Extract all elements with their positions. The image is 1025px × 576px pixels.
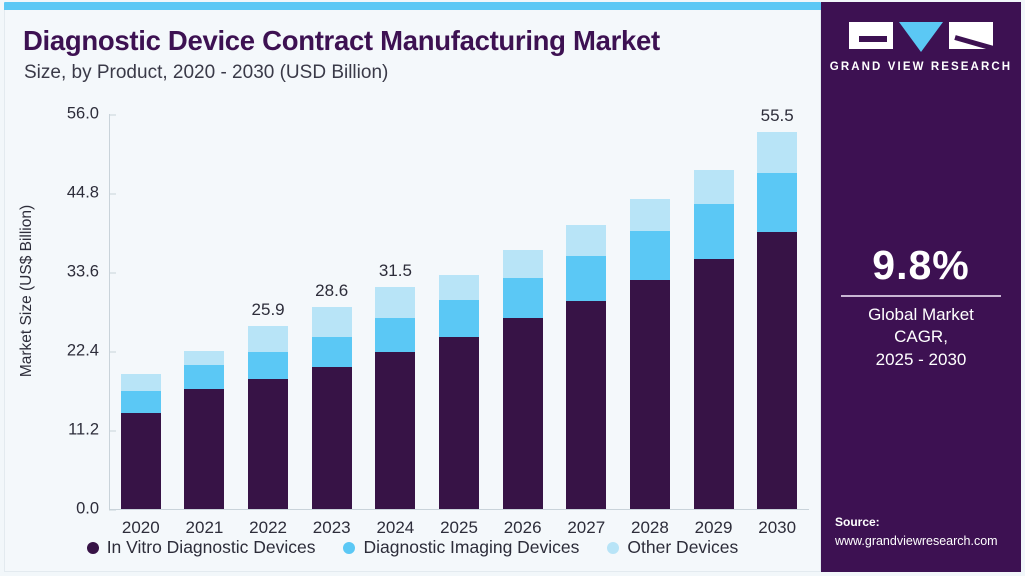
y-axis-line: [109, 114, 110, 509]
y-axis-tick-label: 44.8: [67, 184, 109, 203]
bar-segment[interactable]: [121, 413, 161, 509]
bar-segment[interactable]: [375, 318, 415, 353]
y-axis-tick-label: 33.6: [67, 263, 109, 282]
bar-segment[interactable]: [375, 287, 415, 318]
x-axis-tick-label: 2022: [249, 518, 287, 538]
bar-segment[interactable]: [439, 337, 479, 509]
page-title: Diagnostic Device Contract Manufacturing…: [23, 25, 660, 57]
bar-value-label: 31.5: [379, 261, 412, 281]
bar-segment[interactable]: [630, 280, 670, 509]
bar-segment[interactable]: [694, 204, 734, 259]
bar-segment[interactable]: [757, 132, 797, 174]
x-axis-tick-label: 2021: [186, 518, 224, 538]
logo-wordmark: GRAND VIEW RESEARCH: [830, 61, 1012, 73]
bar-segment[interactable]: [566, 256, 606, 300]
bar-group[interactable]: 31.52024: [375, 114, 415, 509]
legend-item[interactable]: In Vitro Diagnostic Devices: [87, 537, 316, 558]
bar-segment[interactable]: [184, 351, 224, 365]
bar-segment[interactable]: [630, 231, 670, 280]
bar-segment[interactable]: [184, 389, 224, 509]
bar-segment[interactable]: [630, 199, 670, 231]
bar-segment[interactable]: [375, 352, 415, 509]
bar-segment[interactable]: [121, 374, 161, 392]
y-axis-tick-label: 11.2: [68, 421, 109, 440]
bar-segment[interactable]: [503, 250, 543, 278]
bar-segment[interactable]: [312, 307, 352, 337]
bar-group[interactable]: 2025: [439, 114, 479, 509]
logo-marks: [849, 22, 993, 52]
x-axis-tick-label: 2028: [631, 518, 669, 538]
source-url: www.grandviewresearch.com: [835, 532, 998, 550]
bar-group[interactable]: 2027: [566, 114, 606, 509]
brand-side-panel: GRAND VIEW RESEARCH 9.8% Global Market C…: [821, 2, 1021, 572]
x-axis-tick-label: 2027: [567, 518, 605, 538]
brand-logo: GRAND VIEW RESEARCH: [821, 22, 1021, 73]
cagr-divider: [841, 295, 1001, 297]
legend-color-dot: [87, 542, 99, 554]
legend-item[interactable]: Diagnostic Imaging Devices: [343, 537, 579, 558]
legend-color-dot: [343, 542, 355, 554]
legend-label: In Vitro Diagnostic Devices: [107, 537, 316, 558]
bar-segment[interactable]: [248, 352, 288, 379]
bar-segment[interactable]: [439, 300, 479, 337]
bar-segment[interactable]: [312, 337, 352, 367]
legend-label: Diagnostic Imaging Devices: [363, 537, 579, 558]
bar-segment[interactable]: [757, 173, 797, 232]
bar-segment[interactable]: [248, 326, 288, 351]
bar-segment[interactable]: [694, 170, 734, 205]
y-axis-tick-label: 0.0: [76, 500, 109, 519]
bar-segment[interactable]: [694, 259, 734, 509]
chart-panel: Diagnostic Device Contract Manufacturing…: [4, 10, 821, 572]
x-axis-tick-label: 2025: [440, 518, 478, 538]
y-axis-tick-label: 22.4: [67, 342, 109, 361]
chart-legend: In Vitro Diagnostic DevicesDiagnostic Im…: [5, 537, 820, 558]
bar-segment[interactable]: [439, 275, 479, 300]
y-axis-tick-mark: [109, 351, 116, 352]
logo-v-triangle-icon: [899, 22, 943, 52]
bar-group[interactable]: 2026: [503, 114, 543, 509]
page-subtitle: Size, by Product, 2020 - 2030 (USD Billi…: [24, 62, 388, 84]
source-block: Source: www.grandviewresearch.com: [835, 514, 998, 550]
bar-group[interactable]: 2021: [184, 114, 224, 509]
plot-area: 0.011.222.433.644.856.0 2020202125.92022…: [109, 114, 809, 509]
bar-segment[interactable]: [121, 391, 161, 413]
legend-label: Other Devices: [627, 537, 738, 558]
bar-group[interactable]: 2028: [630, 114, 670, 509]
cagr-value: 9.8%: [839, 244, 1003, 287]
x-axis-tick-label: 2020: [122, 518, 160, 538]
bar-group[interactable]: 2020: [121, 114, 161, 509]
bar-segment[interactable]: [503, 278, 543, 318]
y-axis-tick-label: 56.0: [67, 105, 109, 124]
bar-segment[interactable]: [757, 232, 797, 509]
bar-group[interactable]: 28.62023: [312, 114, 352, 509]
y-axis-tick-mark: [109, 193, 116, 194]
bar-segment[interactable]: [184, 365, 224, 389]
x-axis-line: [109, 509, 809, 510]
bar-group[interactable]: 55.52030: [757, 114, 797, 509]
x-axis-tick-label: 2029: [695, 518, 733, 538]
logo-g-icon: [849, 22, 893, 49]
bar-segment[interactable]: [312, 367, 352, 509]
bar-segment[interactable]: [566, 301, 606, 509]
bar-group[interactable]: 25.92022: [248, 114, 288, 509]
cagr-block: 9.8% Global Market CAGR, 2025 - 2030: [839, 244, 1003, 371]
cagr-caption-line1: Global Market CAGR,: [839, 304, 1003, 349]
bar-value-label: 25.9: [252, 300, 285, 320]
y-axis-title: Market Size (US$ Billion): [18, 204, 36, 376]
legend-color-dot: [607, 542, 619, 554]
source-label: Source:: [835, 514, 998, 531]
bar-segment[interactable]: [248, 379, 288, 509]
bar-value-label: 28.6: [315, 281, 348, 301]
logo-r-icon: [949, 22, 993, 49]
x-axis-tick-label: 2026: [504, 518, 542, 538]
y-axis-tick-mark: [109, 430, 116, 431]
x-axis-tick-label: 2024: [376, 518, 414, 538]
y-axis-tick-mark: [109, 272, 116, 273]
x-axis-tick-label: 2023: [313, 518, 351, 538]
bar-segment[interactable]: [503, 318, 543, 509]
cagr-caption: Global Market CAGR, 2025 - 2030: [839, 304, 1003, 371]
cagr-caption-line2: 2025 - 2030: [839, 349, 1003, 371]
legend-item[interactable]: Other Devices: [607, 537, 738, 558]
y-axis-tick-mark: [109, 114, 116, 115]
x-axis-tick-label: 2030: [758, 518, 796, 538]
y-axis-tick-mark: [109, 509, 116, 510]
bar-segment[interactable]: [566, 225, 606, 257]
bar-group[interactable]: 2029: [694, 114, 734, 509]
bar-value-label: 55.5: [761, 106, 794, 126]
chart-infographic: Diagnostic Device Contract Manufacturing…: [0, 0, 1025, 576]
